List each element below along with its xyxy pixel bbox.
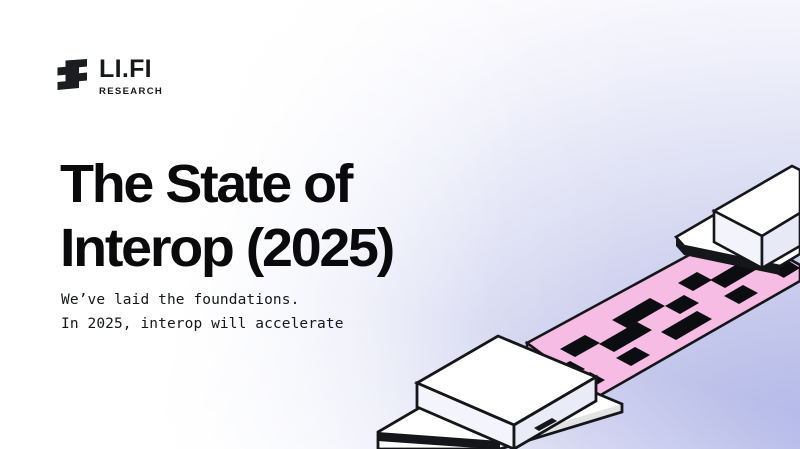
page-title: The State of Interop (2025) xyxy=(60,152,530,280)
logo-division: RESEARCH xyxy=(99,85,163,98)
brand-logo[interactable]: LI.FI RESEARCH xyxy=(57,57,163,98)
page-title-line-1: The State of xyxy=(60,152,544,216)
lifi-logo-icon xyxy=(57,59,88,97)
logo-title: LI.FI xyxy=(99,57,163,82)
page-title-line-2: Interop (2025) xyxy=(60,216,544,280)
page-subtitle-line-1: We’ve laid the foundations. xyxy=(61,289,344,313)
page-subtitle-line-2: In 2025, interop will accelerate xyxy=(61,313,344,337)
page-subtitle: We’ve laid the foundations. In 2025, int… xyxy=(61,289,344,336)
logo-wordmark: LI.FI RESEARCH xyxy=(99,57,163,98)
